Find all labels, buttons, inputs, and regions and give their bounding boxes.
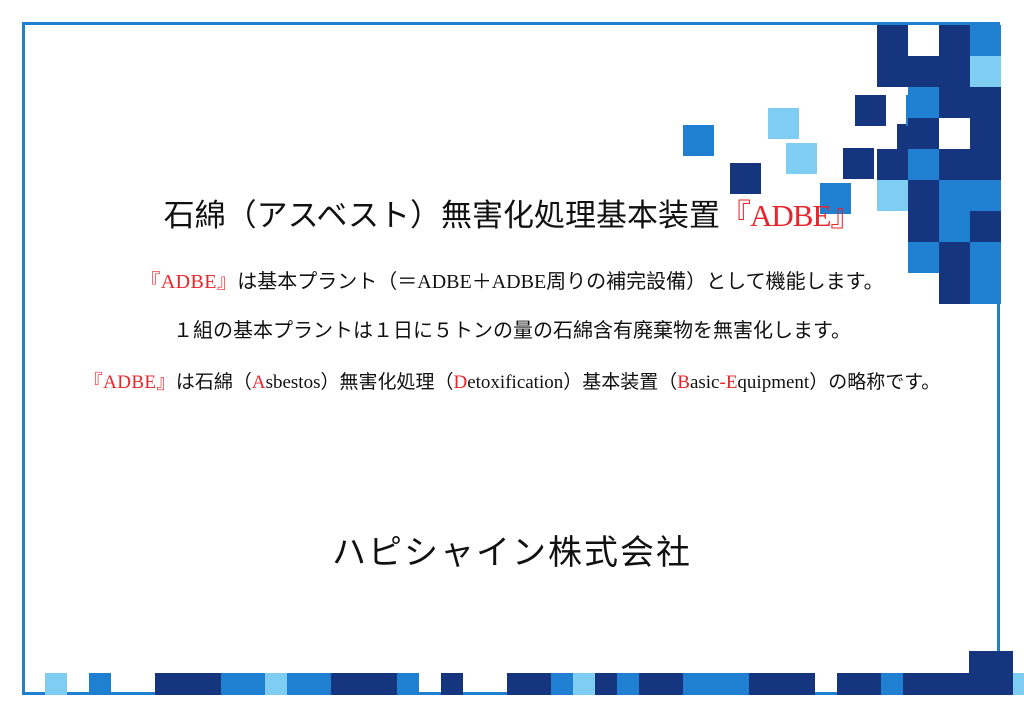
mosaic-square-strip-10 xyxy=(331,673,353,695)
mosaic-square-strip-31 xyxy=(881,673,903,695)
mosaic-square-strip-2 xyxy=(155,673,177,695)
line3-brand-close: 』 xyxy=(156,372,175,393)
mosaic-square-block-0 xyxy=(877,25,908,56)
mosaic-square-block-11 xyxy=(908,118,939,149)
mosaic-square-strip-23 xyxy=(683,673,705,695)
mosaic-square-strip-11 xyxy=(353,673,375,695)
mosaic-square-block-8 xyxy=(908,87,939,118)
mosaic-square-bump-0 xyxy=(969,651,991,673)
mosaic-square-block-14 xyxy=(877,149,908,180)
line3-red-e: E xyxy=(726,372,738,393)
mosaic-square-block-17 xyxy=(970,149,1001,180)
slide-border-frame xyxy=(22,22,1000,695)
line3-red-b: B xyxy=(677,372,690,393)
mosaic-square-strip-4 xyxy=(199,673,221,695)
mosaic-square-block-15 xyxy=(908,149,939,180)
title-brand: ADBE xyxy=(750,198,830,233)
mosaic-square-scatter-3 xyxy=(843,148,874,179)
mosaic-square-strip-27 xyxy=(771,673,793,695)
mosaic-square-strip-36 xyxy=(991,673,1013,695)
mosaic-square-strip-37 xyxy=(1013,673,1024,695)
mosaic-square-block-3 xyxy=(970,25,1001,56)
mosaic-square-strip-17 xyxy=(551,673,573,695)
mosaic-square-strip-5 xyxy=(221,673,243,695)
mosaic-square-strip-29 xyxy=(837,673,859,695)
line3-seg3: etoxification）基本装置（ xyxy=(467,372,677,393)
company-name: ハピシャイン株式会社 xyxy=(0,530,1024,578)
mosaic-square-strip-1 xyxy=(89,673,111,695)
mosaic-square-block-6 xyxy=(939,56,970,87)
mosaic-square-block-10 xyxy=(970,87,1001,118)
mosaic-square-strip-13 xyxy=(397,673,419,695)
mosaic-square-strip-20 xyxy=(617,673,639,695)
mosaic-square-strip-26 xyxy=(749,673,771,695)
page-title: 石綿（アスベスト）無害化処理基本装置『ADBE』 xyxy=(0,196,1024,236)
mosaic-square-block-7 xyxy=(970,56,1001,87)
mosaic-square-block-9 xyxy=(939,87,970,118)
mosaic-square-strip-0 xyxy=(45,673,67,695)
mosaic-square-block-12 xyxy=(939,118,970,149)
line3-red-a: A xyxy=(252,372,266,393)
line2-text: １組の基本プラントは１日に５トンの量の石綿含有廃棄物を無害化します。 xyxy=(173,320,851,342)
mosaic-square-strip-16 xyxy=(529,673,551,695)
mosaic-square-strip-18 xyxy=(573,673,595,695)
line3-seg5: quipment）の略称です。 xyxy=(737,372,940,393)
mosaic-square-strip-12 xyxy=(375,673,397,695)
body-line-1: 『ADBE』は基本プラント（＝ADBE＋ADBE周りの補完設備）として機能します… xyxy=(0,268,1024,296)
line3-seg4: asic xyxy=(690,372,720,393)
line1-brand-open: 『 xyxy=(140,271,160,293)
mosaic-square-strip-32 xyxy=(903,673,925,695)
mosaic-square-strip-33 xyxy=(925,673,947,695)
mosaic-square-strip-24 xyxy=(705,673,727,695)
mosaic-square-scatter-9 xyxy=(768,108,799,139)
mosaic-square-scatter-0 xyxy=(683,125,714,156)
mosaic-square-block-16 xyxy=(939,149,970,180)
mosaic-square-strip-21 xyxy=(639,673,661,695)
mosaic-square-strip-6 xyxy=(243,673,265,695)
mosaic-square-strip-9 xyxy=(309,673,331,695)
line3-red-d: D xyxy=(453,372,467,393)
mosaic-square-block-5 xyxy=(908,56,939,87)
line3-brand-open: 『 xyxy=(84,372,103,393)
mosaic-square-block-13 xyxy=(970,118,1001,149)
line1-brand: ADBE xyxy=(161,271,217,293)
body-line-3: 『ADBE』は石綿（Asbestos）無害化処理（Detoxification）… xyxy=(0,369,1024,397)
line3-seg1: は石綿（ xyxy=(176,372,252,393)
mosaic-square-bump-1 xyxy=(991,651,1013,673)
line1-brand-close: 』 xyxy=(217,271,237,293)
mosaic-square-scatter-7 xyxy=(855,95,886,126)
mosaic-square-block-2 xyxy=(939,25,970,56)
mosaic-square-strip-8 xyxy=(287,673,309,695)
mosaic-square-strip-30 xyxy=(859,673,881,695)
line3-seg2: sbestos）無害化処理（ xyxy=(266,372,454,393)
mosaic-square-strip-14 xyxy=(441,673,463,695)
title-prefix: 石綿（アスベスト）無害化処理基本装置 xyxy=(164,198,720,233)
mosaic-square-strip-7 xyxy=(265,673,287,695)
mosaic-square-strip-3 xyxy=(177,673,199,695)
mosaic-square-scatter-2 xyxy=(786,143,817,174)
slide-canvas: 石綿（アスベスト）無害化処理基本装置『ADBE』 『ADBE』は基本プラント（＝… xyxy=(0,0,1024,709)
mosaic-square-strip-19 xyxy=(595,673,617,695)
line3-brand: ADBE xyxy=(103,372,156,393)
mosaic-square-strip-35 xyxy=(969,673,991,695)
mosaic-square-strip-22 xyxy=(661,673,683,695)
mosaic-square-block-4 xyxy=(877,56,908,87)
mosaic-square-block-1 xyxy=(908,25,939,56)
mosaic-square-strip-34 xyxy=(947,673,969,695)
mosaic-square-strip-15 xyxy=(507,673,529,695)
line1-rest: は基本プラント（＝ADBE＋ADBE周りの補完設備）として機能します。 xyxy=(237,271,883,293)
mosaic-square-strip-25 xyxy=(727,673,749,695)
title-brand-open: 『 xyxy=(720,198,750,233)
mosaic-square-strip-28 xyxy=(793,673,815,695)
mosaic-square-scatter-1 xyxy=(730,163,761,194)
title-brand-close: 』 xyxy=(830,198,860,233)
body-line-2: １組の基本プラントは１日に５トンの量の石綿含有廃棄物を無害化します。 xyxy=(0,317,1024,345)
